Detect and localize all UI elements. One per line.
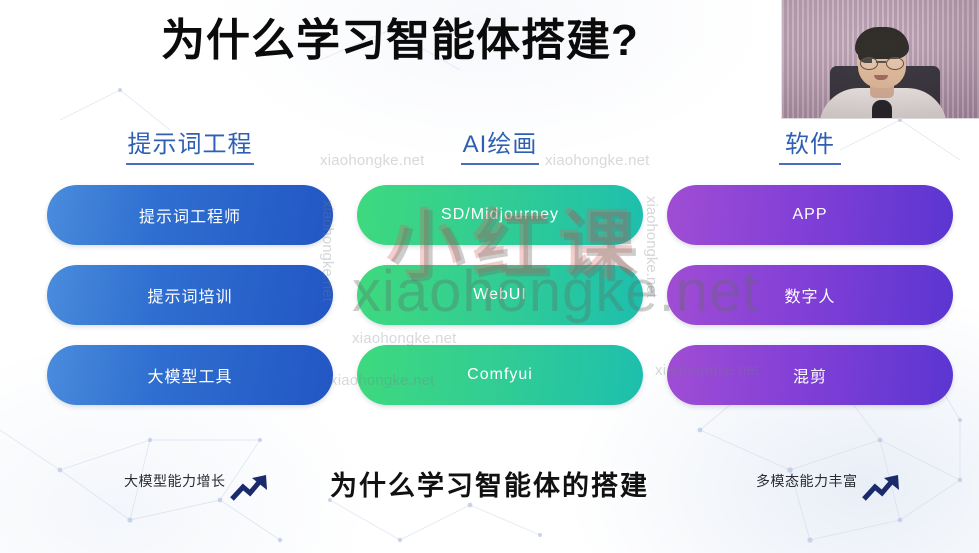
column-3-underline (779, 163, 841, 165)
pill-column1-item2[interactable]: 提示词培训 (47, 265, 333, 325)
page-title: 为什么学习智能体搭建? (0, 8, 800, 74)
pill-column2-item2[interactable]: WebUI (357, 265, 643, 325)
column-3-header-label: 软件 (785, 131, 835, 158)
watermark-site-vertical-right: xiaohongke.net (643, 196, 660, 298)
pill-column1-item1[interactable]: 提示词工程师 (47, 185, 333, 245)
column-2-header: AI绘画 (357, 130, 643, 165)
column-3-header: 软件 (667, 130, 953, 165)
pill-column3-item1[interactable]: APP (667, 185, 953, 245)
column-2-underline (461, 163, 539, 165)
pill-column1-item3[interactable]: 大模型工具 (47, 345, 333, 405)
pill-column3-item3[interactable]: 混剪 (667, 345, 953, 405)
pill-column2-item3[interactable]: Comfyui (357, 345, 643, 405)
column-software: 软件 APP 数字人 混剪 (667, 130, 953, 405)
pill-column2-item1[interactable]: SD/Midjourney (357, 185, 643, 245)
slide-canvas: 为什么学习智能体搭建? 提示词工程 提示词工程师 提示词培训 大模型工具 AI绘… (0, 0, 979, 553)
video-subtitle-caption: 为什么学习智能体的搭建 (0, 464, 979, 503)
column-1-underline (126, 163, 254, 165)
column-1-header-label: 提示词工程 (128, 131, 253, 158)
column-1-header: 提示词工程 (47, 130, 333, 165)
column-ai-painting: AI绘画 SD/Midjourney WebUI Comfyui (357, 130, 643, 405)
presenter-webcam[interactable] (781, 0, 979, 119)
column-2-header-label: AI绘画 (463, 131, 538, 158)
pill-column3-item2[interactable]: 数字人 (667, 265, 953, 325)
column-prompt-engineering: 提示词工程 提示词工程师 提示词培训 大模型工具 (47, 130, 333, 405)
webcam-vignette (782, 0, 979, 118)
